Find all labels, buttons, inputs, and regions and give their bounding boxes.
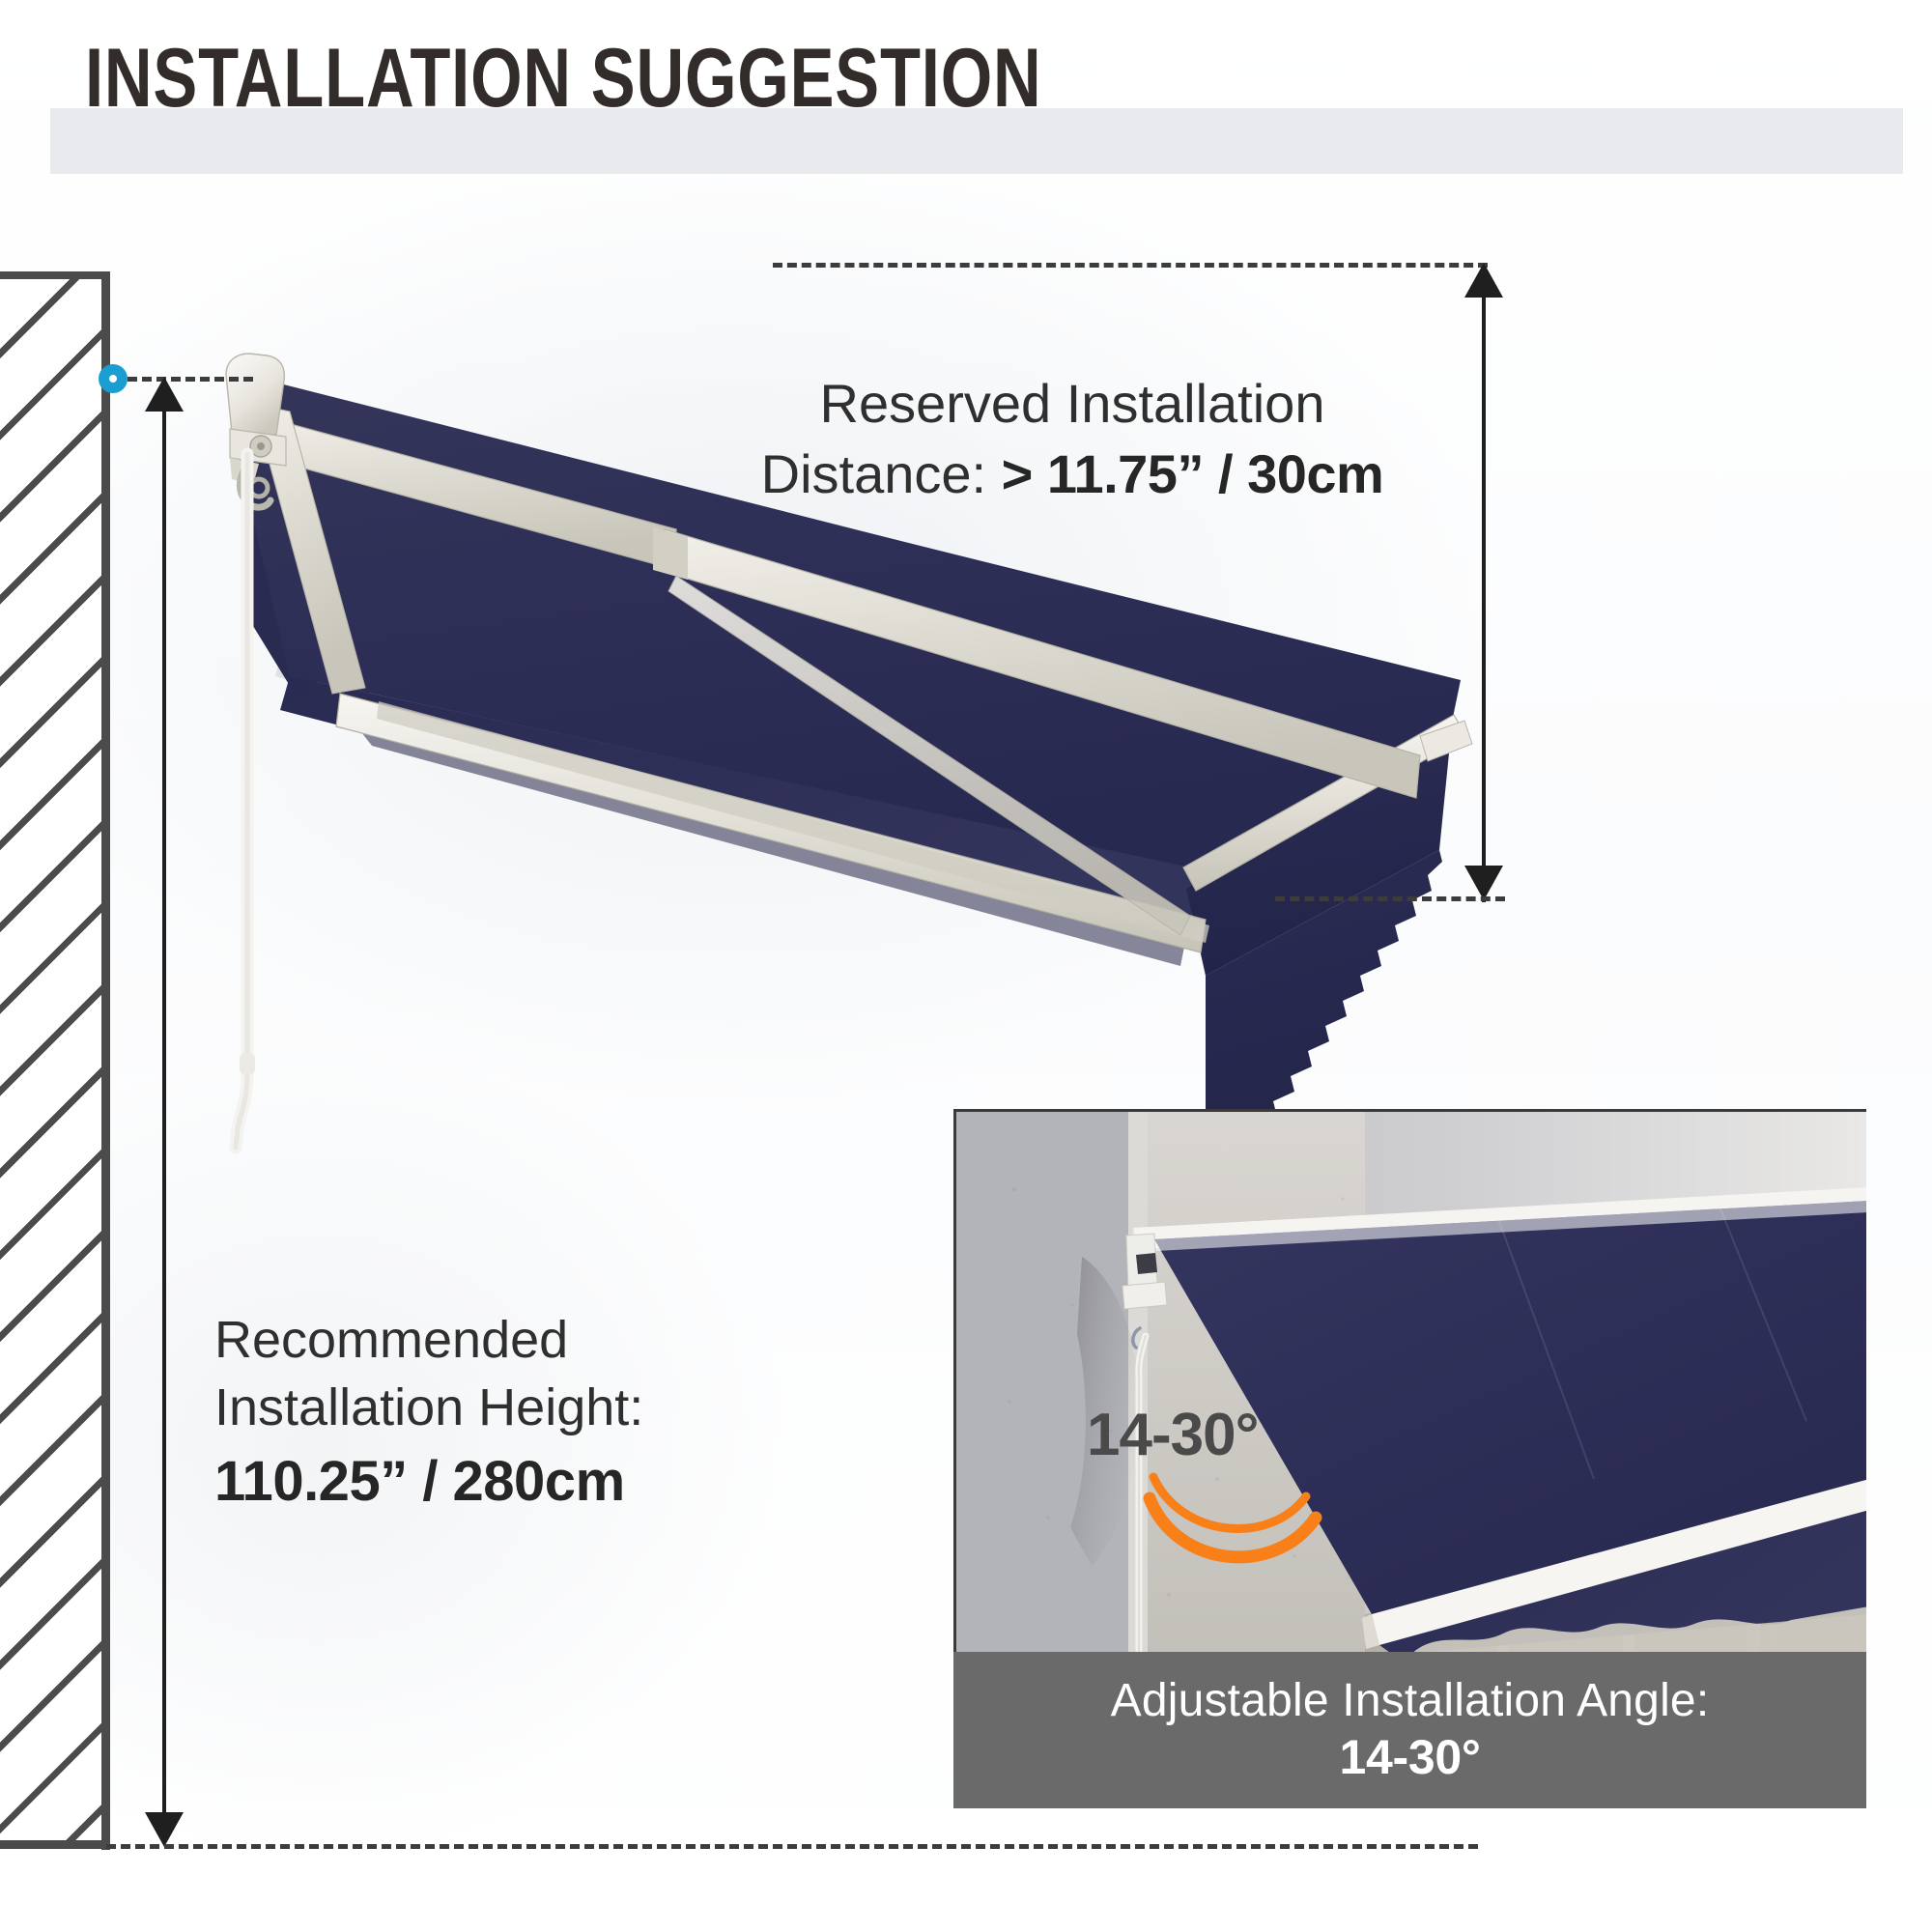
angle-photo-scene <box>956 1112 1866 1652</box>
reserved-distance-bottom-dashed <box>1275 896 1505 901</box>
infographic-page: INSTALLATION SUGGESTION <box>0 0 1932 1932</box>
reserved-distance-line2-prefix: Distance: <box>761 443 1002 504</box>
height-arrow-shaft <box>162 383 166 1820</box>
reserved-distance-arrow-shaft <box>1482 269 1486 902</box>
angle-caption-bar: Adjustable Installation Angle: 14-30° <box>953 1652 1866 1808</box>
recommended-height-line2: Installation Height: <box>214 1378 643 1436</box>
recommended-height-line1: Recommended <box>214 1311 568 1369</box>
angle-overlay-label: 14-30° <box>1087 1401 1258 1469</box>
angle-photo-inset <box>953 1109 1866 1652</box>
angle-caption-line2: 14-30° <box>953 1730 1866 1784</box>
reserved-distance-top-dashed <box>773 263 1488 268</box>
mount-point-marker-icon <box>99 364 128 393</box>
reserved-distance-arrow-up <box>1464 263 1503 298</box>
angle-caption-line1: Adjustable Installation Angle: <box>953 1673 1866 1730</box>
height-bottom-dashed <box>106 1844 1478 1849</box>
recommended-height-value: 110.25” / 280cm <box>214 1445 833 1518</box>
wall-bottom-edge <box>0 1840 108 1849</box>
reserved-distance-value: > 11.75” / 30cm <box>1002 443 1384 504</box>
reserved-distance-arrow-down <box>1464 866 1503 900</box>
reserved-distance-line1: Reserved Installation <box>820 373 1325 434</box>
wall-cross-section <box>0 273 108 1848</box>
height-arrow-up <box>145 377 184 412</box>
wall-top-edge <box>0 271 108 279</box>
recommended-height-callout: Recommended Installation Height: 110.25”… <box>214 1306 833 1519</box>
wall-hatch-pattern <box>0 273 108 1848</box>
wall-right-edge <box>101 271 110 1850</box>
page-title: INSTALLATION SUGGESTION <box>85 37 1042 120</box>
reserved-distance-callout: Reserved Installation Distance: > 11.75”… <box>676 369 1468 510</box>
height-arrow-down <box>145 1812 184 1847</box>
